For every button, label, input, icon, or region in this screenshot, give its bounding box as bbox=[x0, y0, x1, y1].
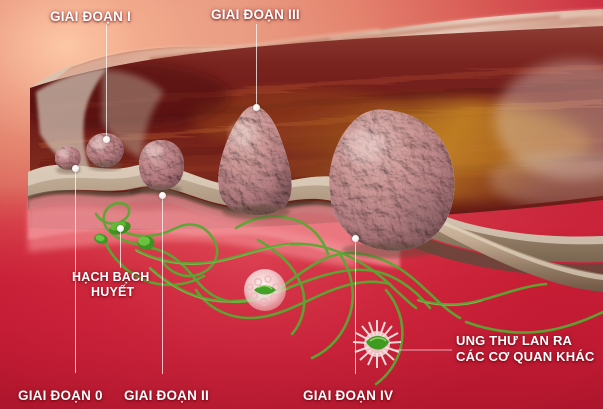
vignette-overlay bbox=[0, 0, 603, 409]
illustration-canvas: GIAI ĐOẠN I GIAI ĐOẠN III HẠCH BẠCH HUYẾ… bbox=[0, 0, 603, 409]
